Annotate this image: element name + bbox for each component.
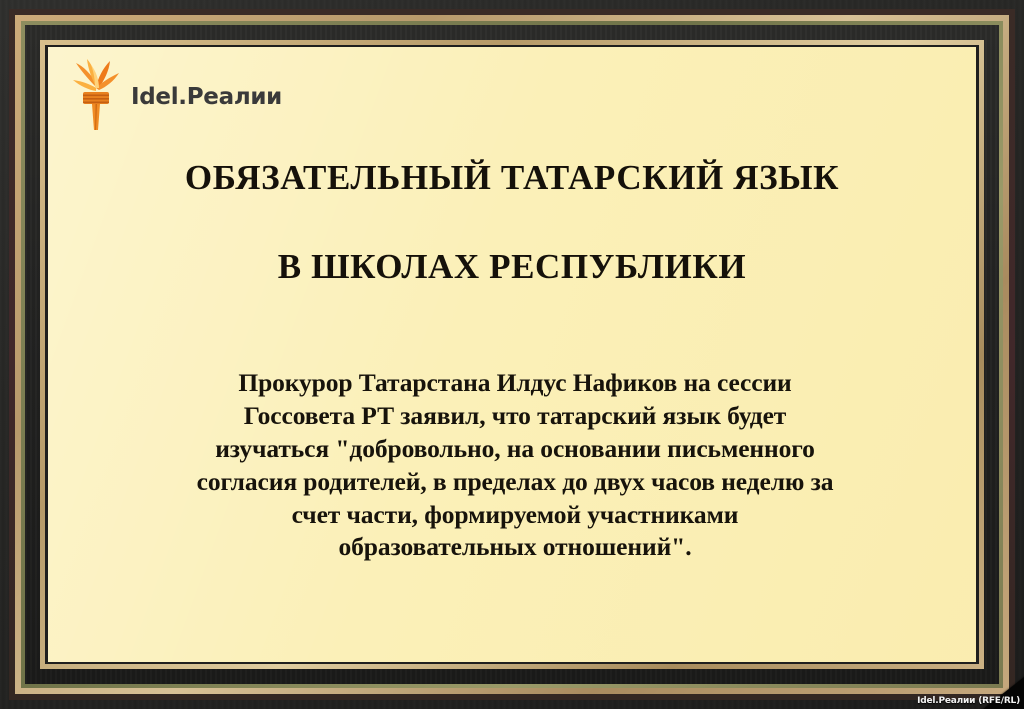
body-line: изучаться "добровольно, на основании пис… xyxy=(82,433,948,466)
body-line: Госсовета РТ заявил, что татарский язык … xyxy=(82,400,948,433)
framed-poster-screenshot: Idel.Реалии ОБЯЗАТЕЛЬНЫЙ ТАТАРСКИЙ ЯЗЫК … xyxy=(0,0,1024,709)
credit-watermark: Idel.Реалии (RFE/RL) xyxy=(917,696,1020,706)
body-line: образовательных отношений". xyxy=(82,531,948,564)
body-line: согласия родителей, в пределах до двух ч… xyxy=(82,466,948,499)
headline: ОБЯЗАТЕЛЬНЫЙ ТАТАРСКИЙ ЯЗЫК В ШКОЛАХ РЕС… xyxy=(48,157,976,288)
body-line: счет части, формируемой участниками xyxy=(82,499,948,532)
publisher-logo[interactable]: Idel.Реалии xyxy=(70,57,282,131)
torch-flame-icon xyxy=(70,57,122,131)
headline-line-1: ОБЯЗАТЕЛЬНЫЙ ТАТАРСКИЙ ЯЗЫК xyxy=(48,157,976,200)
poster-canvas: Idel.Реалии ОБЯЗАТЕЛЬНЫЙ ТАТАРСКИЙ ЯЗЫК … xyxy=(48,47,976,662)
body-line: Прокурор Татарстана Илдус Нафиков на сес… xyxy=(82,367,948,400)
body-paragraph: Прокурор Татарстана Илдус Нафиков на сес… xyxy=(82,367,948,564)
headline-line-2: В ШКОЛАХ РЕСПУБЛИКИ xyxy=(48,246,976,289)
publisher-wordmark: Idel.Реалии xyxy=(131,80,282,109)
